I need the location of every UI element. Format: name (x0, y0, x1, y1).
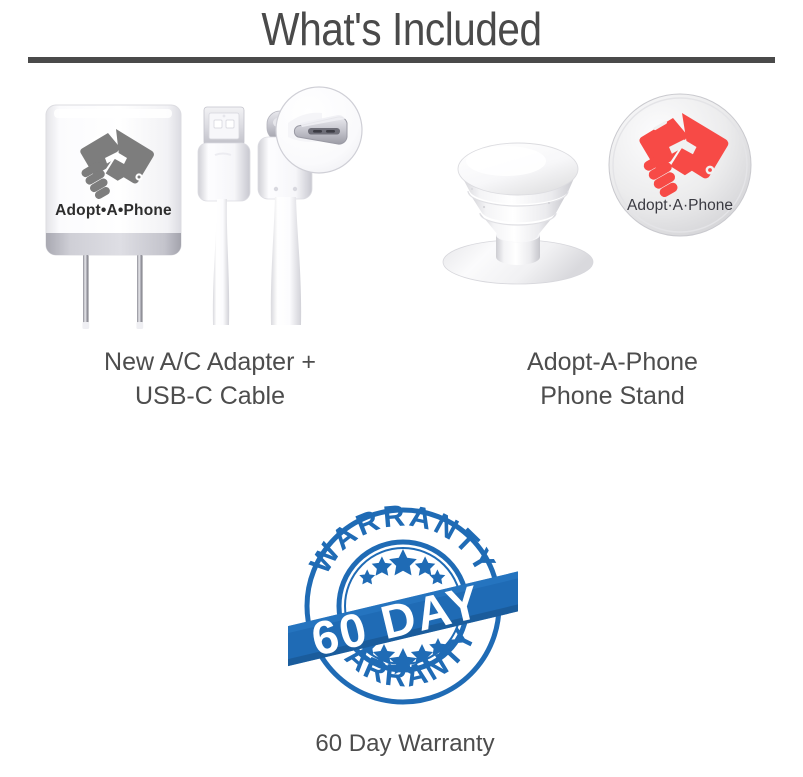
adapter-brick: Adopt•A•Phone (46, 105, 181, 255)
ac-adapter-icon: Adopt•A•Phone (20, 85, 400, 335)
usb-c-connector-zoom-icon (276, 87, 362, 173)
caption-warranty: 60 Day Warranty (205, 727, 605, 761)
plug-prongs-icon (82, 255, 143, 329)
product-phone-stand: Adopt·A·Phone (410, 85, 795, 335)
phone-grip-expanded-icon: Adopt·A·Phone (410, 85, 795, 335)
grip-expanded (443, 143, 593, 284)
stars-top (359, 549, 445, 584)
product-adapter-cable: Adopt•A•Phone (20, 85, 400, 335)
page-title: What's Included (48, 2, 755, 56)
grip-brand-text: Adopt·A·Phone (627, 197, 733, 214)
caption-adapter-cable: New A/C Adapter + USB-C Cable (25, 345, 395, 413)
phone-grip-logo-icon: Adopt·A·Phone (609, 94, 751, 236)
title-underline-rule (28, 57, 775, 63)
caption-phone-stand: Adopt-A-Phone Phone Stand (425, 345, 800, 413)
warranty-stamp-icon: WARRANTY WARRANTY (288, 492, 518, 720)
product-warranty: WARRANTY WARRANTY (288, 492, 518, 720)
adapter-brand-text: Adopt•A•Phone (55, 202, 172, 219)
usb-a-connector-icon (198, 107, 250, 325)
